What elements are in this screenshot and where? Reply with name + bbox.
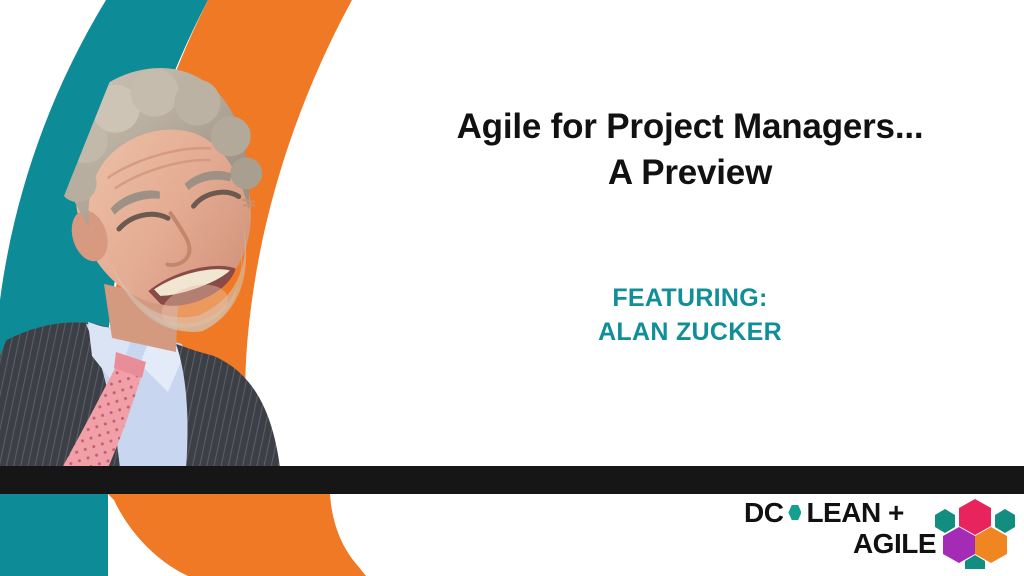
orange-band-lower-right bbox=[232, 494, 400, 576]
teal-block-bottom bbox=[0, 494, 108, 576]
orange-flare-bottom bbox=[108, 494, 366, 576]
logo-wordmark: DC LEAN + AGILE bbox=[744, 497, 940, 559]
orange-band-lower-flare bbox=[108, 494, 396, 576]
logo-line-2: AGILE bbox=[744, 528, 940, 559]
dc-lean-agile-logo[interactable]: DC LEAN + AGILE bbox=[744, 497, 1016, 569]
logo-dc-text: DC bbox=[744, 497, 783, 528]
title-line-1: Agile for Project Managers... bbox=[360, 104, 1020, 150]
teal-band-lower bbox=[0, 494, 108, 576]
hex-purple-left-icon bbox=[943, 527, 975, 563]
slide-title: Agile for Project Managers... A Preview bbox=[360, 104, 1020, 195]
logo-line-1: DC LEAN + bbox=[744, 497, 940, 528]
featuring-label: FEATURING: bbox=[360, 281, 1020, 315]
speaker-portrait bbox=[0, 56, 320, 468]
hexagon-dot-icon bbox=[788, 505, 801, 520]
hex-small-right-icon bbox=[995, 509, 1015, 533]
orange-band-lower bbox=[108, 494, 376, 576]
logo-lean-text: LEAN + bbox=[806, 497, 903, 528]
orange-flare-bottom-tail bbox=[216, 494, 362, 576]
speaker-name: ALAN ZUCKER bbox=[360, 315, 1020, 349]
hex-pink-top-icon bbox=[959, 499, 991, 535]
jacket-lapel-right bbox=[176, 344, 280, 468]
logo-hexagon-cluster bbox=[934, 497, 1016, 569]
featuring-block: FEATURING: ALAN ZUCKER bbox=[360, 281, 1020, 349]
hex-small-left-icon bbox=[935, 509, 955, 533]
black-divider-bar bbox=[0, 466, 1024, 494]
webinar-title-slide: Agile for Project Managers... A Preview … bbox=[0, 0, 1024, 576]
hex-orange-right-icon bbox=[975, 527, 1007, 563]
speaker-portrait-illustration bbox=[0, 56, 320, 468]
title-line-2: A Preview bbox=[360, 150, 1020, 196]
